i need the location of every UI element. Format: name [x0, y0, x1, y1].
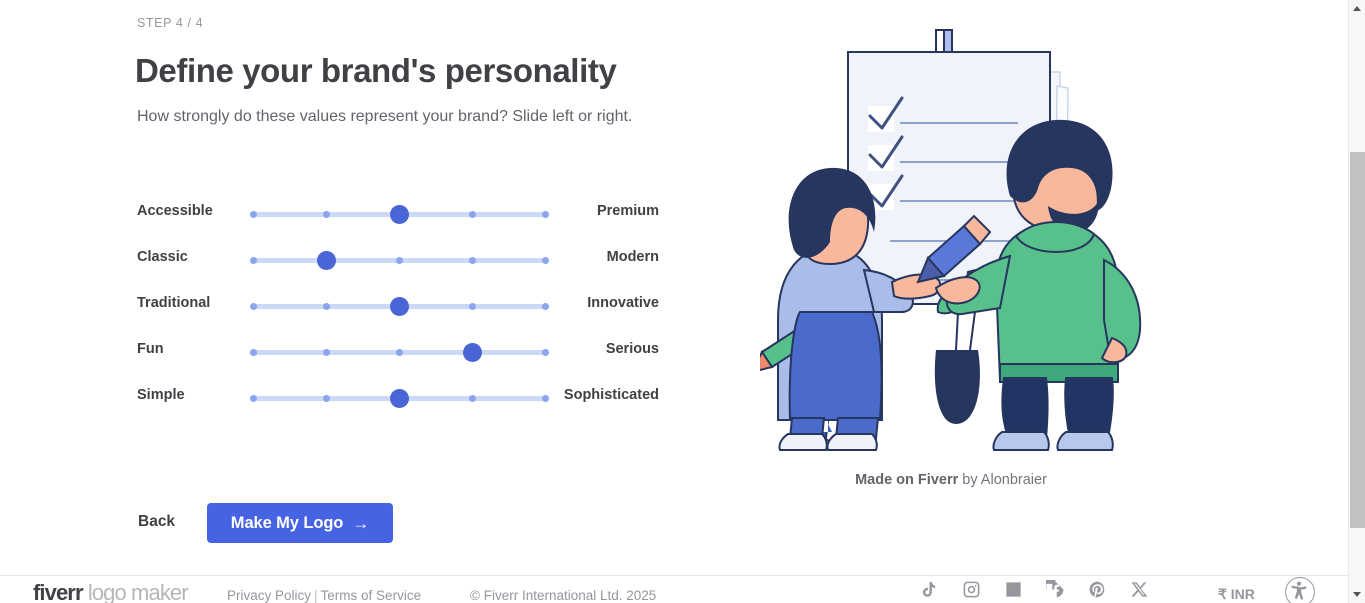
- logo-fiverr-word: fiverr: [33, 580, 83, 603]
- wizard-actions: Back Make My Logo →: [137, 500, 537, 546]
- slider-tick[interactable]: [542, 211, 549, 218]
- slider-tick[interactable]: [250, 211, 257, 218]
- slider-left-label: Simple: [137, 387, 242, 403]
- instagram-icon[interactable]: [962, 580, 981, 599]
- slider-tick[interactable]: [396, 257, 403, 264]
- slider-row: SimpleSophisticated: [137, 376, 659, 422]
- personality-slider[interactable]: [251, 284, 547, 330]
- back-button[interactable]: Back: [138, 513, 175, 531]
- app-page: STEP 4 / 4 Define your brand's personali…: [0, 0, 1365, 603]
- facebook-icon[interactable]: [1046, 580, 1065, 599]
- slider-row: TraditionalInnovative: [137, 284, 659, 330]
- make-my-logo-button[interactable]: Make My Logo →: [207, 503, 393, 543]
- scroll-up-arrow-icon[interactable]: [1349, 0, 1365, 17]
- vertical-scrollbar[interactable]: [1348, 0, 1365, 603]
- slider-tick[interactable]: [250, 257, 257, 264]
- two-people-checklist-illustration: [760, 20, 1150, 465]
- slider-tick[interactable]: [469, 395, 476, 402]
- slider-thumb[interactable]: [390, 297, 409, 316]
- step-indicator: STEP 4 / 4: [137, 16, 203, 30]
- slider-thumb[interactable]: [317, 251, 336, 270]
- slider-thumb[interactable]: [390, 205, 409, 224]
- slider-row: AccessiblePremium: [137, 192, 659, 238]
- slider-right-label: Modern: [552, 249, 659, 265]
- copyright-text: © Fiverr International Ltd. 2025: [470, 588, 656, 603]
- slider-row: FunSerious: [137, 330, 659, 376]
- illustration-panel: Made on Fiverr by Alonbraier: [760, 20, 1150, 500]
- slider-tick[interactable]: [396, 349, 403, 356]
- privacy-policy-link[interactable]: Privacy Policy: [227, 588, 311, 603]
- slider-tick[interactable]: [250, 349, 257, 356]
- slider-tick[interactable]: [323, 395, 330, 402]
- footer-separator: |: [311, 588, 321, 603]
- tiktok-icon[interactable]: [920, 580, 939, 599]
- personality-slider[interactable]: [251, 192, 547, 238]
- slider-tick[interactable]: [323, 303, 330, 310]
- linkedin-icon[interactable]: [1004, 580, 1023, 599]
- footer-links: Privacy Policy|Terms of Service: [227, 588, 421, 603]
- slider-thumb[interactable]: [463, 343, 482, 362]
- scrollbar-thumb[interactable]: [1350, 152, 1365, 528]
- cta-label: Make My Logo: [231, 514, 343, 533]
- slider-tick[interactable]: [469, 211, 476, 218]
- slider-tick[interactable]: [542, 349, 549, 356]
- slider-tick[interactable]: [469, 303, 476, 310]
- slider-tick[interactable]: [542, 395, 549, 402]
- slider-left-label: Fun: [137, 341, 242, 357]
- slider-right-label: Premium: [552, 203, 659, 219]
- social-links: [920, 580, 1149, 599]
- slider-tick[interactable]: [542, 257, 549, 264]
- personality-slider[interactable]: [251, 330, 547, 376]
- personality-slider-group: AccessiblePremiumClassicModernTraditiona…: [137, 192, 659, 422]
- personality-slider[interactable]: [251, 238, 547, 284]
- slider-left-label: Classic: [137, 249, 242, 265]
- slider-tick[interactable]: [469, 257, 476, 264]
- slider-left-label: Traditional: [137, 295, 242, 311]
- page-title: Define your brand's personality: [135, 51, 616, 91]
- slider-tick[interactable]: [250, 395, 257, 402]
- site-footer: fiverr logo maker Privacy Policy|Terms o…: [0, 575, 1348, 603]
- slider-right-label: Innovative: [552, 295, 659, 311]
- accessibility-icon[interactable]: [1285, 577, 1315, 603]
- x-twitter-icon[interactable]: [1130, 580, 1149, 599]
- slider-right-label: Serious: [552, 341, 659, 357]
- pinterest-icon[interactable]: [1088, 580, 1107, 599]
- terms-of-service-link[interactable]: Terms of Service: [321, 588, 422, 603]
- slider-row: ClassicModern: [137, 238, 659, 284]
- illustration-caption-rest: by Alonbraier: [958, 472, 1047, 488]
- slider-left-label: Accessible: [137, 203, 242, 219]
- logo-logomaker-word: logo maker: [83, 580, 188, 603]
- slider-thumb[interactable]: [390, 389, 409, 408]
- scroll-down-arrow-icon[interactable]: [1349, 586, 1365, 603]
- page-subtitle: How strongly do these values represent y…: [137, 105, 642, 129]
- illustration-caption: Made on Fiverr by Alonbraier: [760, 472, 1142, 488]
- currency-selector[interactable]: ₹ INR: [1218, 586, 1255, 603]
- slider-tick[interactable]: [323, 211, 330, 218]
- illustration-caption-bold: Made on Fiverr: [855, 472, 958, 488]
- content-viewport: STEP 4 / 4 Define your brand's personali…: [0, 0, 1348, 603]
- slider-tick[interactable]: [250, 303, 257, 310]
- slider-tick[interactable]: [323, 349, 330, 356]
- slider-tick[interactable]: [542, 303, 549, 310]
- slider-right-label: Sophisticated: [552, 387, 659, 403]
- arrow-right-icon: →: [352, 515, 369, 532]
- personality-slider[interactable]: [251, 376, 547, 422]
- fiverr-logo-maker-logo[interactable]: fiverr logo maker: [33, 582, 188, 603]
